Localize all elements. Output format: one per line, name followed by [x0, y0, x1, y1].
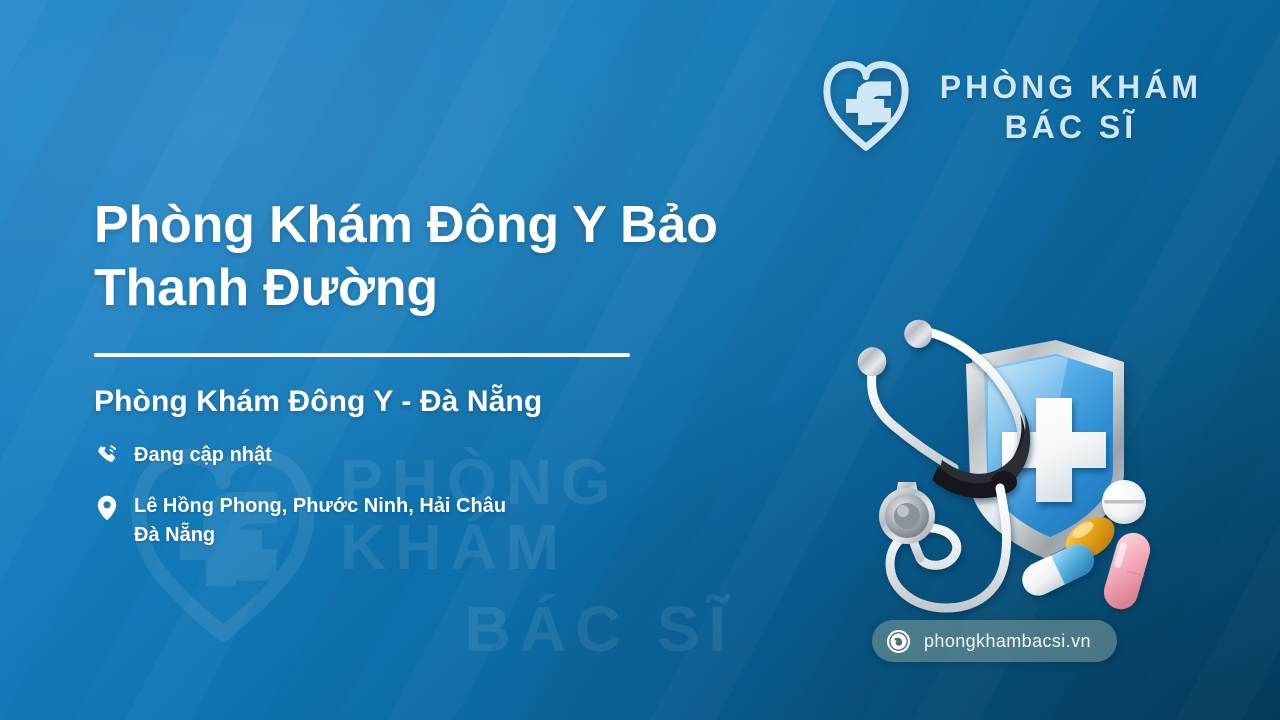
address-row: Lê Hồng Phong, Phước Ninh, Hải Châu Đà N… — [94, 492, 794, 550]
phone-call-icon — [94, 441, 120, 468]
ear-tips — [858, 320, 933, 376]
clinic-cross-heart-logo-icon — [814, 58, 918, 158]
chest-piece — [879, 482, 935, 544]
clinic-title: Phòng Khám Đông Y Bảo Thanh Đường — [94, 194, 754, 321]
brand-line-2: BÁC SĨ — [940, 110, 1202, 146]
globe-icon — [886, 629, 911, 654]
clinic-subtitle: Phòng Khám Đông Y - Đà Nẵng — [94, 385, 794, 419]
location-pin-icon-svg — [96, 495, 118, 521]
phone-row: Đang cập nhật — [94, 441, 794, 470]
website-badge[interactable]: phongkhambacsi.vn — [872, 620, 1117, 662]
website-url-text: phongkhambacsi.vn — [924, 631, 1091, 652]
location-pin-icon — [94, 492, 120, 521]
phone-value: Đang cập nhật — [134, 441, 272, 470]
brand-line-1: PHÒNG KHÁM — [940, 70, 1202, 106]
title-divider — [94, 353, 630, 357]
clinic-info-block: Phòng Khám Đông Y Bảo Thanh Đường Phòng … — [94, 194, 794, 550]
address-line-2: Đà Nẵng — [134, 521, 506, 550]
brand-logo: PHÒNG KHÁM BÁC SĨ — [814, 58, 1202, 158]
medical-illustration — [828, 296, 1180, 628]
phone-call-icon-svg — [95, 444, 119, 468]
white-round-tablet — [1102, 480, 1146, 524]
watermark-line-2: BÁC SĨ — [340, 597, 820, 662]
banner-canvas: PHÒNG KHÁM BÁC SĨ PHÒNG KHÁM BÁC SĨ Phòn… — [0, 0, 1280, 720]
address-line-1: Lê Hồng Phong, Phước Ninh, Hải Châu — [134, 495, 506, 517]
brand-text: PHÒNG KHÁM BÁC SĨ — [940, 70, 1202, 146]
address-value: Lê Hồng Phong, Phước Ninh, Hải Châu Đà N… — [134, 492, 506, 550]
